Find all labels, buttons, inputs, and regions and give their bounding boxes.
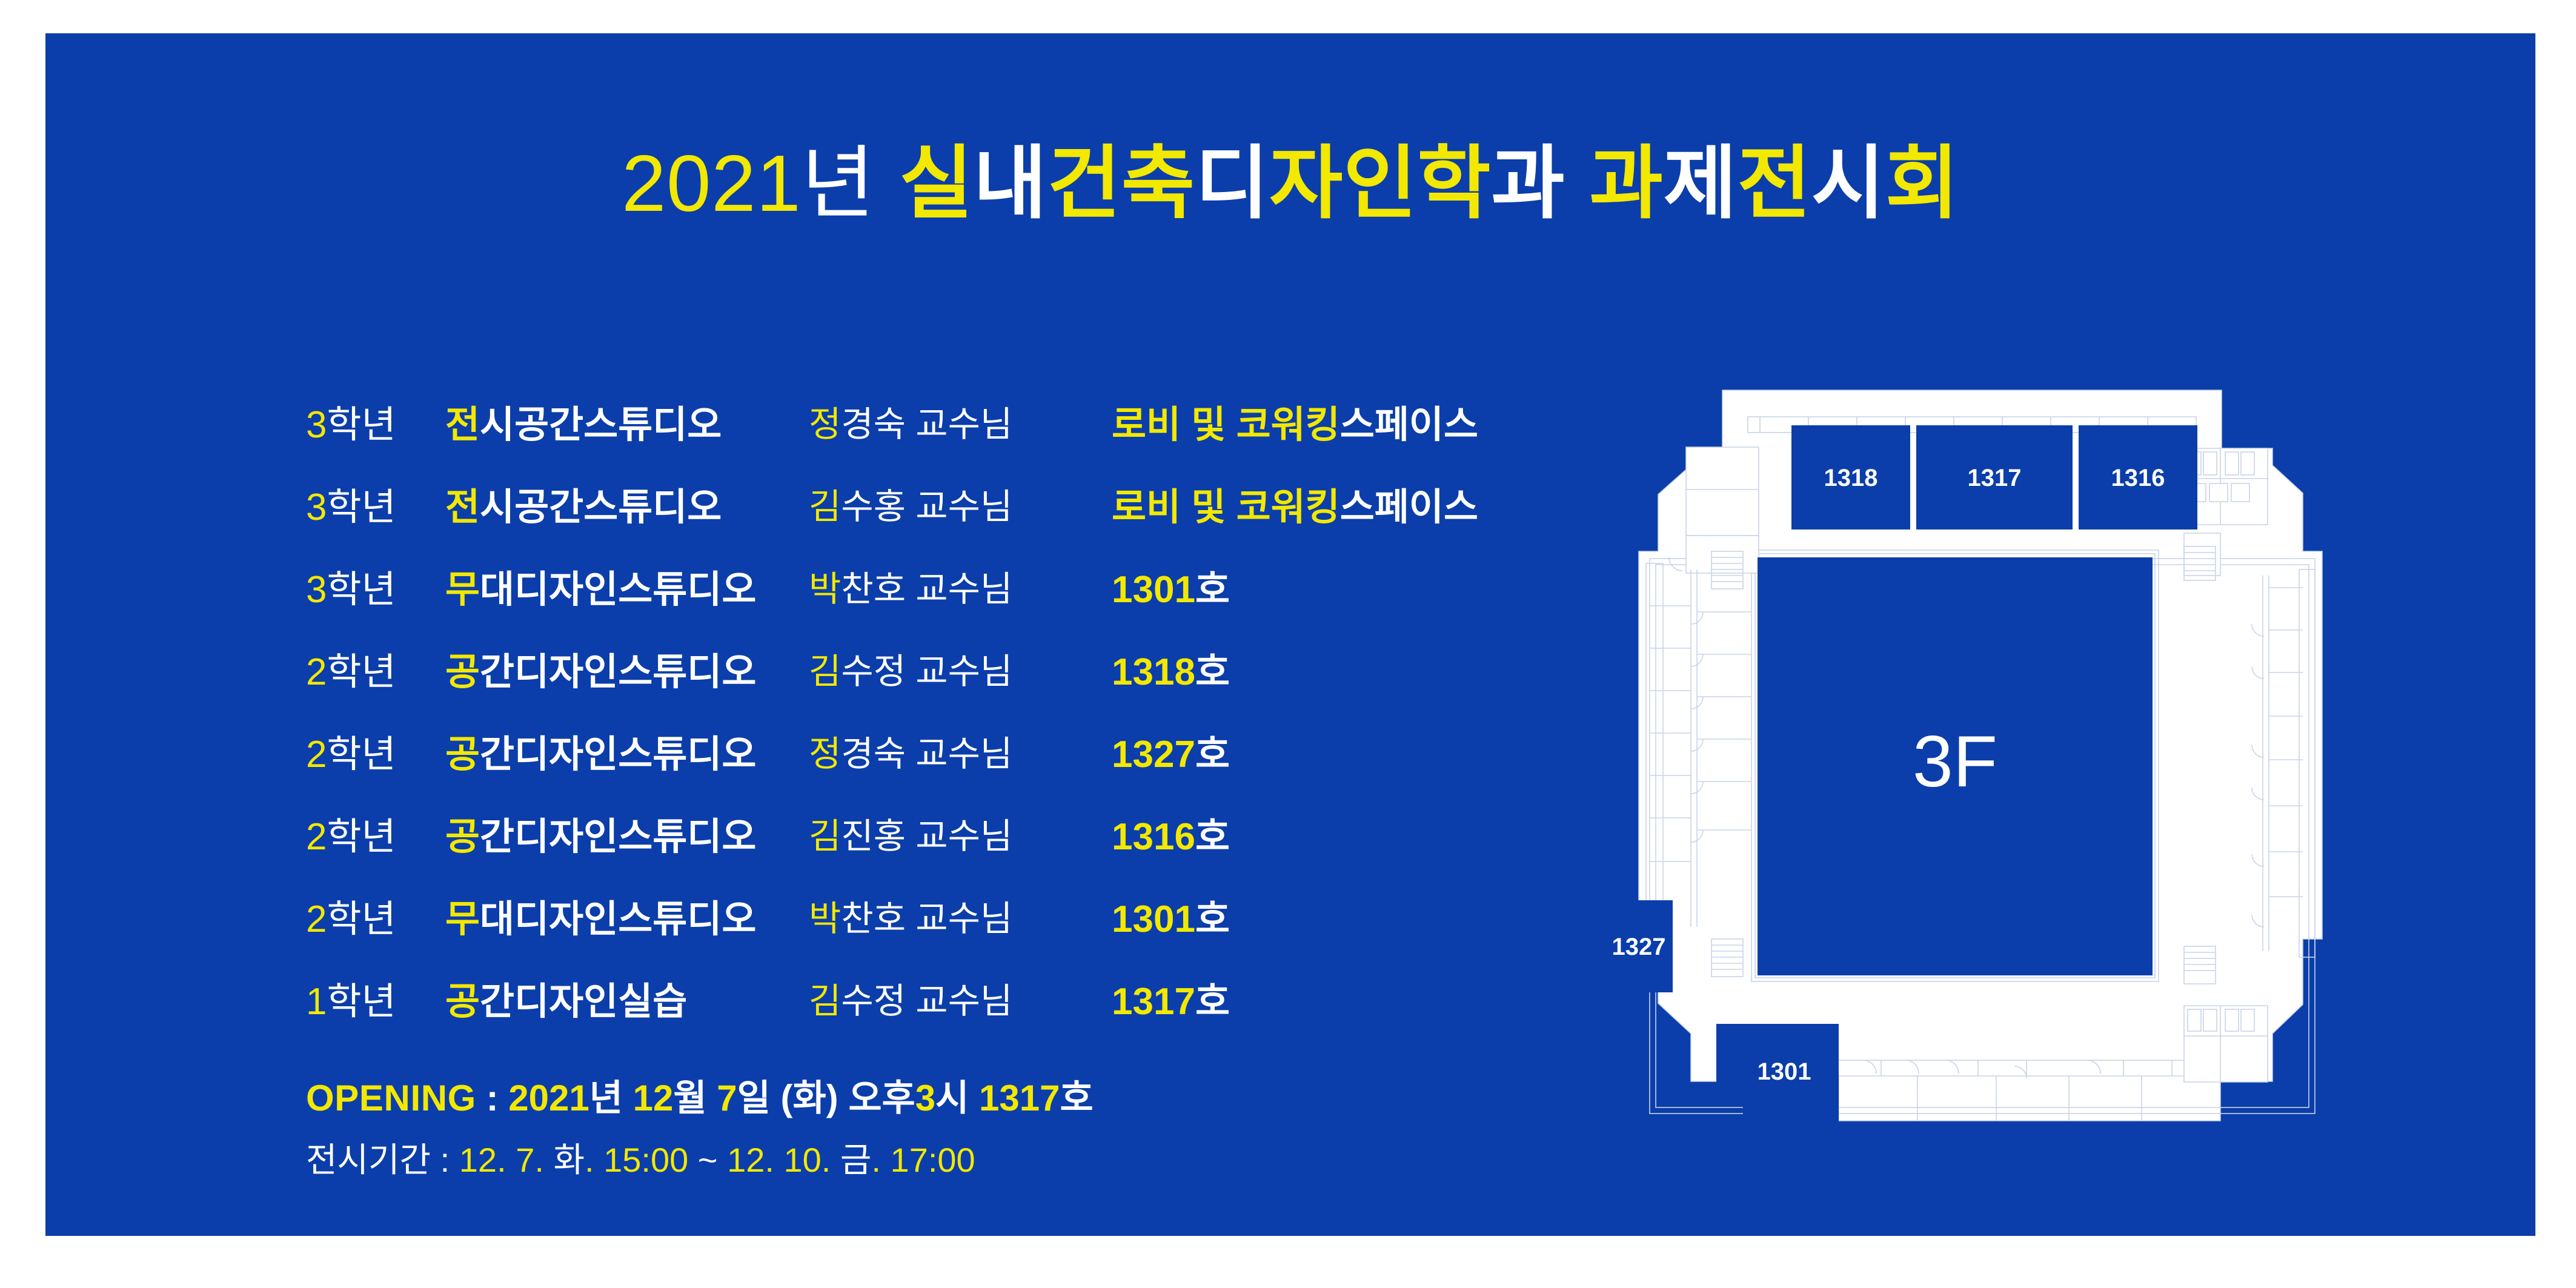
title-char: 회 <box>1885 139 1959 228</box>
professor-tail: 찬호 교수님 <box>841 899 1012 938</box>
period-end-time: 17:00 <box>891 1141 975 1179</box>
professor-head: 김 <box>809 817 841 856</box>
course-head: 공 <box>445 981 480 1023</box>
opening-day: 7 <box>717 1078 737 1118</box>
room-tail: 호 <box>1195 981 1230 1023</box>
course-head: 공 <box>445 734 480 775</box>
title-char: 전 <box>1738 139 1811 228</box>
title-event: 과제전시회 <box>1589 203 1959 213</box>
listing-professor-7: 김수정 교수님 <box>809 972 1112 1023</box>
title-char: 건 <box>1047 139 1121 228</box>
room-tail: 호 <box>1195 569 1230 611</box>
listing-room-7: 1317호 <box>1112 971 1230 1025</box>
listing-year-3: 2학년 <box>306 641 445 695</box>
course-tail: 대디자인스튜디오 <box>480 569 756 611</box>
title-char: 내 <box>974 139 1047 228</box>
period-colon: : <box>431 1141 459 1179</box>
title-char: 축 <box>1121 139 1195 228</box>
poster-canvas: 2021년실내건축디자인학과과제전시회 3학년전시공간스튜디오정경숙 교수님로비… <box>45 33 2535 1236</box>
listing-room-6: 1301호 <box>1112 888 1230 943</box>
listing-room-5: 1316호 <box>1112 806 1230 860</box>
room-head: 1301 <box>1112 569 1195 611</box>
period-tilde: ~ <box>688 1141 727 1179</box>
listing-row: 3학년무대디자인스튜디오박찬호 교수님1301호 <box>306 545 1493 627</box>
listing-year-2: 3학년 <box>306 559 445 613</box>
opening-day-suffix: 일 <box>737 1078 781 1118</box>
listing-row: 3학년전시공간스튜디오김수홍 교수님로비 및 코워킹스페이스 <box>306 462 1493 545</box>
room-head: 1317 <box>1112 981 1195 1023</box>
listing-room-4: 1327호 <box>1112 723 1230 778</box>
opening-room-suffix: 호 <box>1060 1078 1093 1118</box>
room-tail: 호 <box>1195 734 1230 775</box>
year-number: 2 <box>306 898 327 940</box>
listing-course-6: 무대디자인스튜디오 <box>445 888 809 943</box>
opening-line: OPENING : 2021년 12월 7일 (화) 오후3시 1317호 <box>306 1079 1094 1117</box>
listing-year-0: 3학년 <box>306 394 445 448</box>
professor-head: 박 <box>809 899 841 938</box>
listing-row: 1학년공간디자인실습김수정 교수님1317호 <box>306 957 1493 1039</box>
listing-course-7: 공간디자인실습 <box>445 971 809 1025</box>
opening-month-suffix: 월 <box>673 1078 717 1118</box>
listing-professor-5: 김진홍 교수님 <box>809 808 1112 858</box>
opening-colon: : <box>476 1078 508 1118</box>
period-end-weekday: 금 <box>840 1141 872 1179</box>
course-head: 전 <box>445 404 480 446</box>
professor-tail: 진홍 교수님 <box>841 817 1012 856</box>
listing-year-7: 1학년 <box>306 971 445 1025</box>
year-suffix: 학년 <box>327 734 396 775</box>
professor-head: 정 <box>809 405 841 444</box>
listing-course-1: 전시공간스튜디오 <box>445 476 809 531</box>
professor-head: 정 <box>809 734 841 774</box>
course-head: 공 <box>445 651 480 693</box>
year-number: 1 <box>306 981 327 1023</box>
professor-tail: 수정 교수님 <box>841 981 1012 1021</box>
professor-tail: 수정 교수님 <box>841 652 1012 691</box>
opening-weekday: (화) <box>780 1078 838 1118</box>
course-tail: 간디자인스튜디오 <box>480 734 756 775</box>
year-suffix: 학년 <box>327 404 396 446</box>
listing-room-3: 1318호 <box>1112 641 1230 695</box>
room-head: 1318 <box>1112 651 1195 693</box>
listing-professor-2: 박찬호 교수님 <box>809 560 1112 611</box>
listing-room-2: 1301호 <box>1112 559 1230 613</box>
year-suffix: 학년 <box>327 569 396 611</box>
room-tail: 호 <box>1195 816 1230 858</box>
listing-professor-1: 김수홍 교수님 <box>809 478 1112 529</box>
title-year: 2021 <box>622 139 801 228</box>
opening-month: 12 <box>633 1078 674 1118</box>
period-end-dot: . <box>871 1141 890 1179</box>
title-char: 학 <box>1417 139 1491 228</box>
listing-professor-6: 박찬호 교수님 <box>809 890 1112 941</box>
title-char: 과 <box>1589 139 1663 228</box>
opening-year-suffix: 년 <box>589 1078 633 1118</box>
year-suffix: 학년 <box>327 981 396 1023</box>
listing-course-4: 공간디자인스튜디오 <box>445 723 809 778</box>
course-head: 무 <box>445 569 480 611</box>
year-suffix: 학년 <box>327 486 396 528</box>
professor-head: 박 <box>809 569 841 609</box>
exhibition-listing: 3학년전시공간스튜디오정경숙 교수님로비 및 코워킹스페이스3학년전시공간스튜디… <box>306 380 1493 1039</box>
title-char: 과 <box>1491 139 1565 228</box>
listing-room-1: 로비 및 코워킹스페이스 <box>1112 476 1478 531</box>
listing-professor-4: 정경숙 교수님 <box>809 725 1112 776</box>
title-char: 인 <box>1343 139 1417 228</box>
title-char: 자 <box>1269 139 1343 228</box>
opening-year: 2021 <box>508 1078 589 1118</box>
year-number: 2 <box>306 816 327 858</box>
period-start-dot: . <box>585 1141 603 1179</box>
opening-label: OPENING <box>306 1078 476 1118</box>
listing-year-4: 2학년 <box>306 723 445 778</box>
floorplan-label-floor: 3F <box>1913 721 1997 802</box>
period-start-date: 12. 7. <box>459 1141 554 1179</box>
course-head: 무 <box>445 898 480 940</box>
year-suffix: 학년 <box>327 816 396 858</box>
period-label: 전시기간 <box>306 1141 431 1179</box>
professor-tail: 경숙 교수님 <box>841 405 1012 444</box>
title-year-suffix: 년 <box>801 139 875 228</box>
professor-head: 김 <box>809 652 841 691</box>
title-char: 디 <box>1195 139 1269 228</box>
professor-head: 김 <box>809 487 841 526</box>
professor-tail: 수홍 교수님 <box>841 487 1012 526</box>
listing-professor-0: 정경숙 교수님 <box>809 396 1112 446</box>
floorplan-label-1301: 1301 <box>1758 1058 1811 1085</box>
year-number: 3 <box>306 404 327 446</box>
title-char: 시 <box>1811 139 1885 228</box>
course-tail: 시공간스튜디오 <box>480 404 722 446</box>
room-head: 1327 <box>1112 734 1195 775</box>
listing-course-2: 무대디자인스튜디오 <box>445 559 809 613</box>
listing-year-6: 2학년 <box>306 888 445 943</box>
floorplan-label-1327: 1327 <box>1612 934 1666 960</box>
course-tail: 간디자인실습 <box>480 981 687 1023</box>
year-number: 2 <box>306 734 327 775</box>
listing-professor-3: 김수정 교수님 <box>809 643 1112 694</box>
listing-row: 2학년공간디자인스튜디오정경숙 교수님1327호 <box>306 709 1493 792</box>
page-title: 2021년실내건축디자인학과과제전시회 <box>45 144 2535 224</box>
professor-tail: 찬호 교수님 <box>841 569 1012 609</box>
listing-row: 3학년전시공간스튜디오정경숙 교수님로비 및 코워킹스페이스 <box>306 380 1493 462</box>
course-head: 공 <box>445 816 480 858</box>
year-number: 3 <box>306 486 327 528</box>
listing-row: 2학년무대디자인스튜디오박찬호 교수님1301호 <box>306 874 1493 957</box>
room-head: 1316 <box>1112 816 1195 858</box>
period-line: 전시기간 : 12. 7. 화. 15:00 ~ 12. 10. 금. 17:0… <box>306 1143 1094 1178</box>
course-tail: 간디자인스튜디오 <box>480 816 756 858</box>
room-tail: 호 <box>1195 898 1230 940</box>
footer-info: OPENING : 2021년 12월 7일 (화) 오후3시 1317호 전시… <box>306 1079 1094 1178</box>
listing-row: 2학년공간디자인스튜디오김수정 교수님1318호 <box>306 627 1493 709</box>
floorplan-label-1317: 1317 <box>1968 465 2022 491</box>
period-start-weekday: 화 <box>553 1141 585 1179</box>
room-head: 로비 및 코워킹 <box>1112 404 1340 446</box>
listing-course-3: 공간디자인스튜디오 <box>445 641 809 695</box>
room-head: 1301 <box>1112 898 1195 940</box>
period-start-time: 15:00 <box>603 1141 688 1179</box>
listing-course-5: 공간디자인스튜디오 <box>445 806 809 860</box>
listing-year-5: 2학년 <box>306 806 445 860</box>
room-tail: 스페이스 <box>1340 486 1478 528</box>
listing-room-0: 로비 및 코워킹스페이스 <box>1112 394 1478 448</box>
listing-row: 2학년공간디자인스튜디오김진홍 교수님1316호 <box>306 792 1493 874</box>
opening-time-prefix: 오후 <box>838 1078 915 1118</box>
opening-time-suffix: 시 <box>935 1078 979 1118</box>
title-department: 실내건축디자인학과 <box>899 203 1565 213</box>
opening-room: 1317 <box>979 1078 1060 1118</box>
title-char: 실 <box>899 139 973 228</box>
floorplan-label-1316: 1316 <box>2111 465 2165 491</box>
floorplan-label-1318: 1318 <box>1824 465 1878 491</box>
year-suffix: 학년 <box>327 898 396 940</box>
floor-plan: .wall { fill:#ffffff; } .ln { stroke:#c9… <box>1578 370 2329 1139</box>
professor-tail: 경숙 교수님 <box>841 734 1012 774</box>
period-end-date: 12. 10. <box>727 1141 840 1179</box>
listing-year-1: 3학년 <box>306 476 445 531</box>
year-suffix: 학년 <box>327 651 396 693</box>
title-char: 제 <box>1664 139 1738 228</box>
course-tail: 시공간스튜디오 <box>480 486 722 528</box>
course-tail: 간디자인스튜디오 <box>480 651 756 693</box>
room-tail: 스페이스 <box>1340 404 1478 446</box>
course-tail: 대디자인스튜디오 <box>480 898 756 940</box>
year-number: 3 <box>306 569 327 611</box>
course-head: 전 <box>445 486 480 528</box>
opening-time-hour: 3 <box>915 1078 935 1118</box>
listing-course-0: 전시공간스튜디오 <box>445 394 809 448</box>
room-tail: 호 <box>1195 651 1230 693</box>
room-head: 로비 및 코워킹 <box>1112 486 1340 528</box>
year-number: 2 <box>306 651 327 693</box>
professor-head: 김 <box>809 981 841 1021</box>
